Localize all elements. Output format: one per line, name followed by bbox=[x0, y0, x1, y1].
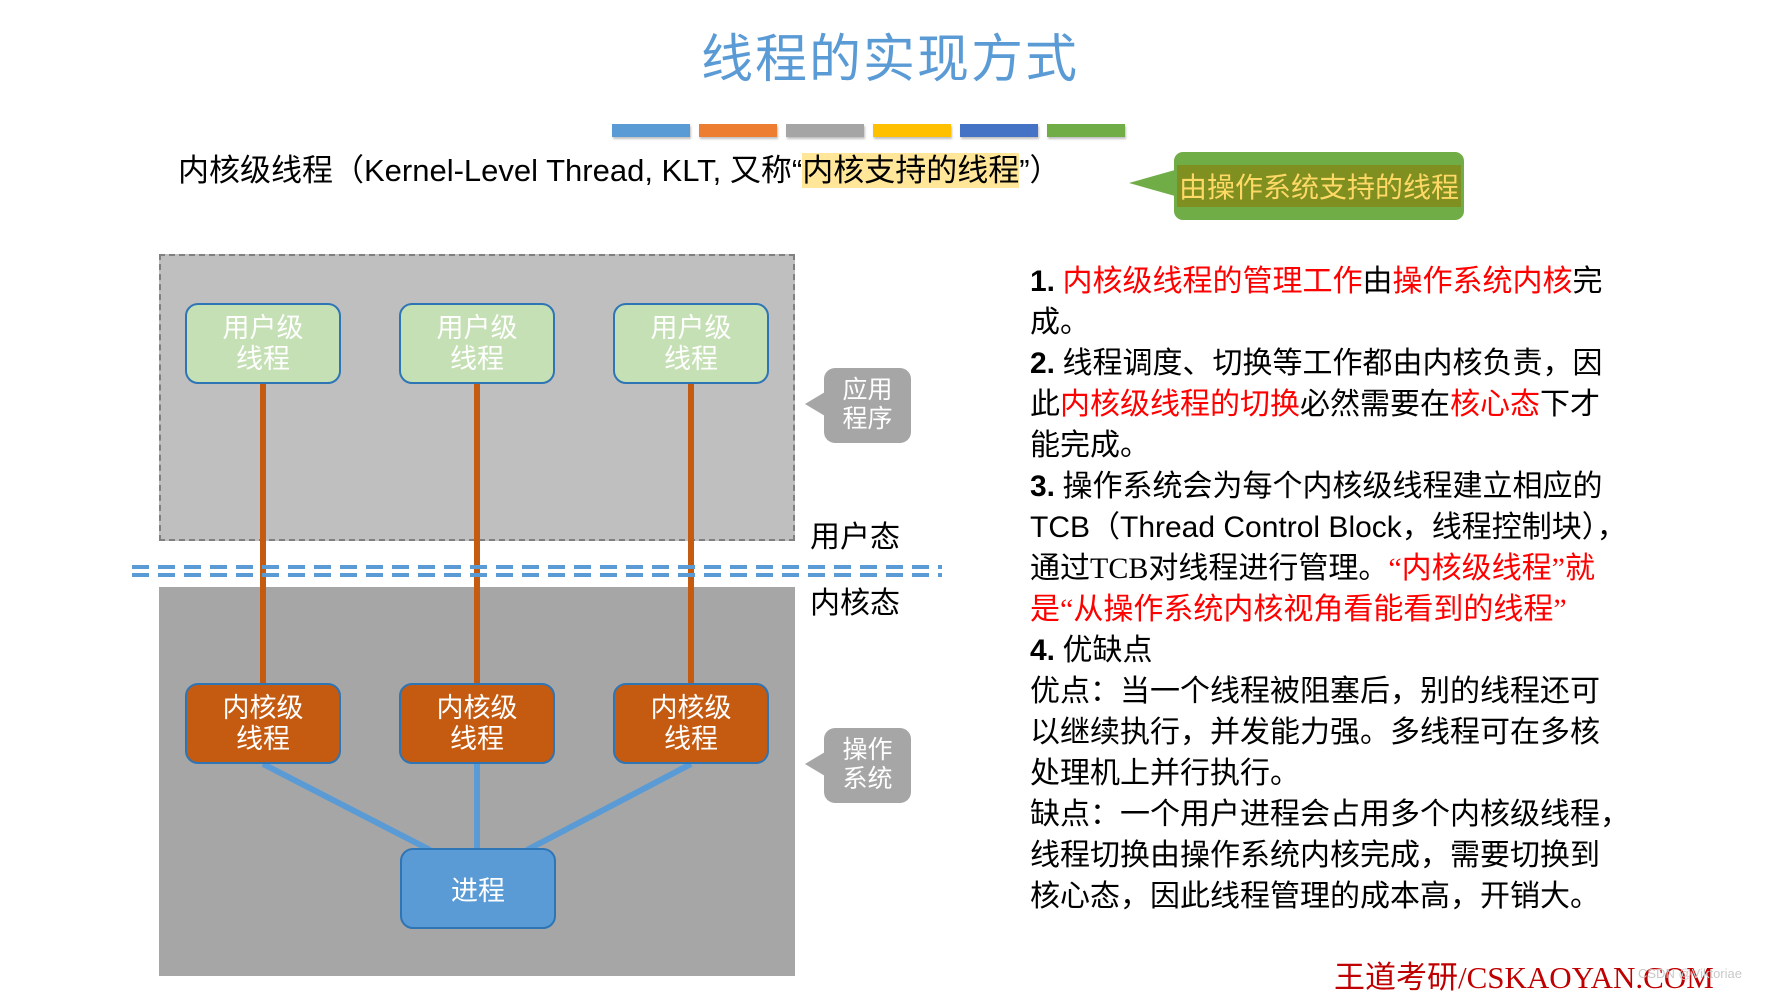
note-1-number: 1. bbox=[1030, 265, 1055, 298]
note-item-3-line2: TCB（Thread Control Block，线程控制块）， bbox=[1030, 508, 1720, 547]
kernel-thread-label-line2: 线程 bbox=[664, 724, 718, 754]
user-thread-label-line2: 线程 bbox=[664, 344, 718, 374]
note-4-number: 4. bbox=[1030, 634, 1055, 667]
callout-tail-icon bbox=[805, 392, 825, 416]
kernel-thread-label-line2: 线程 bbox=[236, 724, 290, 754]
process-label: 进程 bbox=[451, 869, 505, 908]
notes-panel: 1. 内核级线程的管理工作由操作系统内核完 成。 2. 线程调度、切换等工作都由… bbox=[1030, 262, 1720, 918]
note-item-1-line1: 1. 内核级线程的管理工作由操作系统内核完 bbox=[1030, 262, 1720, 301]
kernel-thread-label-line2: 线程 bbox=[450, 724, 504, 754]
note-1-red-b: 操作系统内核 bbox=[1393, 265, 1573, 298]
kernel-thread-box-1[interactable]: 内核级 线程 bbox=[185, 683, 341, 764]
note-3-number: 3. bbox=[1030, 470, 1055, 503]
note-item-4-pros-line3: 处理机上并行执行。 bbox=[1030, 754, 1720, 793]
user-thread-box-1[interactable]: 用户级 线程 bbox=[185, 303, 341, 384]
note-item-4-cons-line1: 缺点：一个用户进程会占用多个内核级线程， bbox=[1030, 795, 1720, 834]
note-3-red: “内核级线程”就 bbox=[1388, 552, 1595, 585]
watermark-text: CSDN @Viktoriae bbox=[1638, 966, 1742, 981]
kernel-thread-label-line1: 内核级 bbox=[437, 693, 518, 723]
note-1-red-a: 内核级线程的管理工作 bbox=[1063, 265, 1363, 298]
user-thread-box-2[interactable]: 用户级 线程 bbox=[399, 303, 555, 384]
user-thread-label-line2: 线程 bbox=[450, 344, 504, 374]
kernel-thread-box-2[interactable]: 内核级 线程 bbox=[399, 683, 555, 764]
callout-application-line2: 程序 bbox=[842, 406, 892, 435]
note-2-red-a: 内核级线程的切换 bbox=[1060, 388, 1300, 421]
note-3-black: 通过TCB对线程进行管理。 bbox=[1030, 552, 1388, 585]
note-2-black-c: 下才 bbox=[1540, 388, 1600, 421]
user-thread-label-line2: 线程 bbox=[236, 344, 290, 374]
note-item-4-cons-line2: 线程切换由操作系统内核完成，需要切换到 bbox=[1030, 836, 1720, 875]
note-2-number: 2. bbox=[1030, 347, 1055, 380]
callout-os-line1: 操作 bbox=[842, 737, 892, 766]
note-item-4-title: 4. 优缺点 bbox=[1030, 631, 1720, 670]
kernel-thread-box-3[interactable]: 内核级 线程 bbox=[613, 683, 769, 764]
boundary-dash-top bbox=[132, 565, 942, 569]
note-item-4-pros-line1: 优点：当一个线程被阻塞后，别的线程还可 bbox=[1030, 672, 1720, 711]
note-4-title-text: 优缺点 bbox=[1063, 634, 1153, 667]
label-kernel-mode: 内核态 bbox=[810, 578, 900, 622]
note-item-2-line2: 此内核级线程的切换必然需要在核心态下才 bbox=[1030, 385, 1720, 424]
note-2-black-b: 必然需要在 bbox=[1300, 388, 1450, 421]
note-item-2-line3: 能完成。 bbox=[1030, 426, 1720, 465]
user-kernel-boundary-line bbox=[132, 565, 942, 577]
note-1-black-b: 完 bbox=[1573, 265, 1603, 298]
user-thread-box-3[interactable]: 用户级 线程 bbox=[613, 303, 769, 384]
note-2-red-b: 核心态 bbox=[1450, 388, 1540, 421]
callout-operating-system: 操作 系统 bbox=[824, 728, 911, 803]
note-2-black-a: 此 bbox=[1030, 388, 1060, 421]
kernel-thread-label-line1: 内核级 bbox=[223, 693, 304, 723]
kernel-thread-label-line1: 内核级 bbox=[651, 693, 732, 723]
user-thread-label-line1: 用户级 bbox=[437, 313, 518, 343]
callout-os-line2: 系统 bbox=[842, 766, 892, 795]
note-item-4-pros-line2: 以继续执行，并发能力强。多线程可在多核 bbox=[1030, 713, 1720, 752]
note-item-2-line1: 2. 线程调度、切换等工作都由内核负责，因 bbox=[1030, 344, 1720, 383]
process-box[interactable]: 进程 bbox=[400, 848, 556, 929]
user-thread-label-line1: 用户级 bbox=[223, 313, 304, 343]
callout-application-line1: 应用 bbox=[842, 377, 892, 406]
user-thread-label-line1: 用户级 bbox=[651, 313, 732, 343]
callout-tail-icon bbox=[805, 752, 825, 776]
note-2-text: 线程调度、切换等工作都由内核负责，因 bbox=[1063, 347, 1603, 380]
note-3-text: 操作系统会为每个内核级线程建立相应的 bbox=[1063, 470, 1603, 503]
boundary-dash-bottom bbox=[132, 573, 942, 577]
note-item-3-line1: 3. 操作系统会为每个内核级线程建立相应的 bbox=[1030, 467, 1720, 506]
label-user-mode: 用户态 bbox=[810, 512, 900, 556]
note-item-1-line2: 成。 bbox=[1030, 303, 1720, 342]
callout-application-program: 应用 程序 bbox=[824, 368, 911, 443]
note-item-4-cons-line3: 核心态，因此线程管理的成本高，开销大。 bbox=[1030, 877, 1720, 916]
note-1-black-a: 由 bbox=[1363, 265, 1393, 298]
note-item-3-line4: 是“从操作系统内核视角看能看到的线程” bbox=[1030, 590, 1720, 629]
note-item-3-line3: 通过TCB对线程进行管理。“内核级线程”就 bbox=[1030, 549, 1720, 588]
